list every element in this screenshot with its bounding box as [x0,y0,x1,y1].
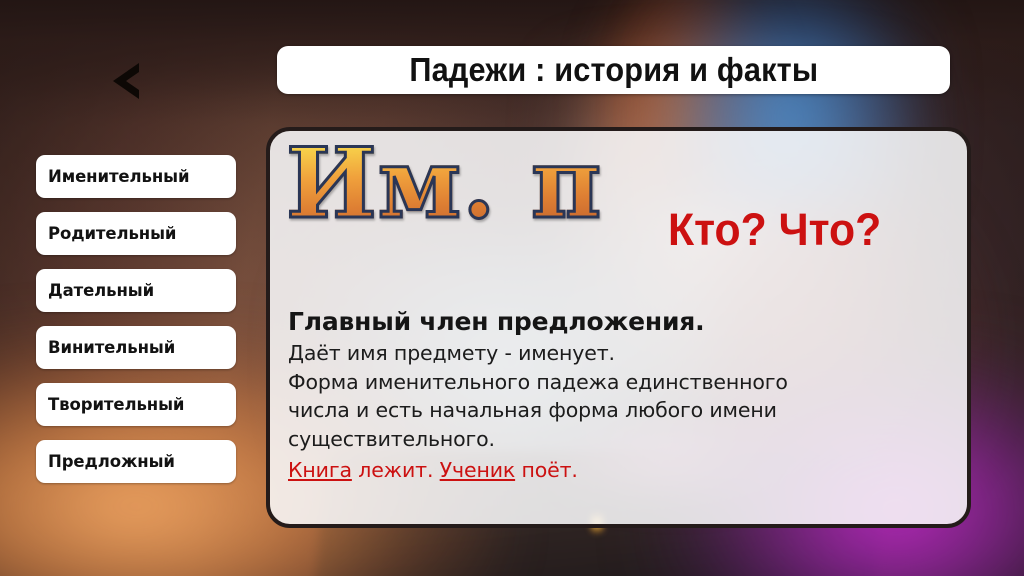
case-list-sidebar: Именительный Родительный Дательный Винит… [36,155,236,483]
ornate-case-abbreviation: Им. п [286,134,602,235]
sidebar-item-dative[interactable]: Дательный [36,269,236,312]
chevron-left-icon [103,57,147,105]
slide-canvas: Падежи : история и факты Именительный Ро… [0,0,1024,576]
page-title: Падежи : история и факты [409,51,818,89]
case-detail-card: Им. п Кто? Что? Главный член предложения… [266,127,971,528]
example-sentence: Книга лежит. Ученик поёт. [288,456,953,485]
description-line: числа и есть начальная форма любого имен… [288,396,953,425]
sidebar-item-accusative[interactable]: Винительный [36,326,236,369]
title-banner: Падежи : история и факты [277,46,950,94]
case-questions: Кто? Что? [668,204,881,256]
sidebar-item-label: Творительный [48,395,184,414]
example-word-two: Ученик [440,458,515,482]
description-heading: Главный член предложения. [288,307,953,336]
example-word-one: Книга [288,458,352,482]
example-tail: поёт. [515,458,578,482]
sidebar-item-nominative[interactable]: Именительный [36,155,236,198]
sidebar-item-genitive[interactable]: Родительный [36,212,236,255]
example-middle: лежит. [352,458,440,482]
sidebar-item-label: Родительный [48,224,176,243]
sidebar-item-instrumental[interactable]: Творительный [36,383,236,426]
sidebar-item-label: Дательный [48,281,154,300]
description-line: существительного. [288,425,953,454]
card-inner: Им. п Кто? Что? Главный член предложения… [270,131,967,524]
sidebar-item-label: Предложный [48,452,175,471]
case-description: Главный член предложения. Даёт имя предм… [288,307,953,484]
sidebar-item-label: Винительный [48,338,175,357]
sidebar-item-prepositional[interactable]: Предложный [36,440,236,483]
description-line: Даёт имя предмету - именует. [288,339,953,368]
back-button[interactable] [98,52,152,110]
description-line: Форма именительного падежа единственного [288,368,953,397]
sidebar-item-label: Именительный [48,167,189,186]
